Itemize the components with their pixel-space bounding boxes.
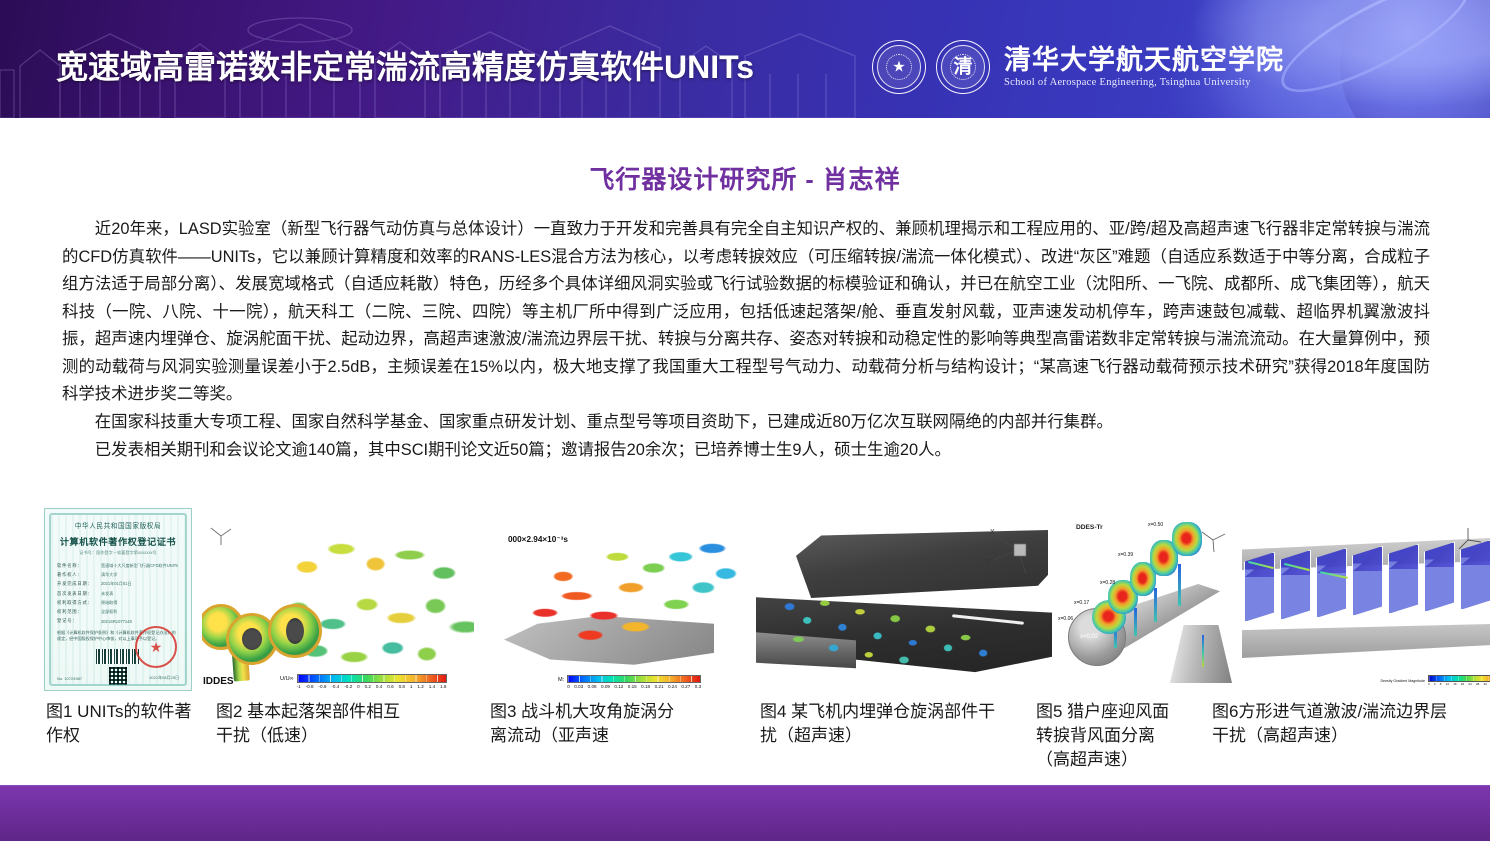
figure-1-image: 中华人民共和国国家版权局 计算机软件著作权登记证书 证书号：国作登字－软著登字第… xyxy=(44,508,192,691)
colorbar-tick: 0.03 xyxy=(574,684,583,689)
copyright-certificate: 中华人民共和国国家版权局 计算机软件著作权登记证书 证书号：国作登字－软著登字第… xyxy=(44,508,192,691)
weapons-bay-cfd-render: X Z Y xyxy=(756,508,1052,691)
colorbar-legend: M: 0 0.03 0.06 0.09 0.12 0.15 0.18 0.21 xyxy=(558,675,701,689)
colorbar-tick: 28 xyxy=(1476,682,1479,686)
method-label-ddes-tr: DDES-Tr xyxy=(1076,524,1103,531)
figure-3-image: 000×2.94×10⁻³s M: 0 0.03 0.06 0.09 0.12 … xyxy=(496,508,754,691)
landing-gear-cfd-render: IDDES U/U∞ -1 -0.8 -0.6 -0.4 -0.2 0 0.2 xyxy=(202,508,474,691)
colorbar-tick: 0.12 xyxy=(614,684,623,689)
barcode-icon xyxy=(96,649,140,664)
colorbar-tick: 20 xyxy=(1461,682,1464,686)
certificate-field-row: 著作权人： 清华大学 xyxy=(57,572,179,578)
colorbar-tick: 0.4 xyxy=(376,684,382,689)
colorbar-tick: 1 xyxy=(410,684,413,689)
star-icon: ★ xyxy=(892,60,905,75)
certificate-serial: No. 10724987 xyxy=(57,676,82,681)
duct-lower-wall xyxy=(1242,624,1490,658)
colorbar-tick: 0.15 xyxy=(628,684,637,689)
certificate-authority: 中华人民共和国国家版权局 xyxy=(52,520,184,530)
slice-plane xyxy=(1388,544,1419,614)
figure-2-caption: 图2 基本起落架部件相互干扰（低速） xyxy=(216,700,416,748)
slice-plane xyxy=(1280,550,1311,620)
certificate-field-value: 未发表 xyxy=(101,591,113,597)
figure-6-caption: 图6方形进气道激波/湍流边界层干扰（高超声速） xyxy=(1212,700,1452,748)
landing-gear-hub xyxy=(286,618,304,644)
certificate-field-row: 权利取得方式： 原始取得 xyxy=(57,600,179,606)
certificate-field-value: 宽速域十大尺度新型飞行器CFD软件UNITs xyxy=(101,563,178,569)
colorbar-tick: -0.4 xyxy=(331,684,339,689)
station-label: x=0.39 xyxy=(1118,552,1133,558)
logo-group: ★ 清 清华大学航天航空学院 School of Aerospace Engin… xyxy=(872,40,1284,94)
colorbar-tick: 1.2 xyxy=(417,684,423,689)
slice-plane xyxy=(1316,548,1347,618)
figure-5-caption: 图5 猎户座迎风面转捩背风面分离（高超声速） xyxy=(1036,700,1176,772)
colorbar-ticks: -1 -0.8 -0.6 -0.4 -0.2 0 0.2 0.4 0.6 0.8… xyxy=(297,684,447,689)
certificate-field-row: 登记号： 2021SR1077148 xyxy=(57,618,179,624)
slice-plane xyxy=(1424,542,1455,612)
colorbar-tick: 4 xyxy=(1434,682,1436,686)
method-label-iddes: IDDES xyxy=(203,676,234,687)
body-paragraph-2: 在国家科技重大专项工程、国家自然科学基金、国家重点研发计划、重点型号等项目资助下… xyxy=(62,409,1430,437)
colorbar-tick: 1.4 xyxy=(429,684,435,689)
certificate-subnote: 证书号：国作登字－软著登字第xxxxxxx号 xyxy=(52,550,184,556)
qr-code-icon xyxy=(109,667,127,685)
section-subtitle: 飞行器设计研究所 - 肖志祥 xyxy=(0,160,1490,196)
colorbar-tick: -0.8 xyxy=(306,684,314,689)
certificate-title: 计算机软件著作权登记证书 xyxy=(52,534,184,548)
seal-emblem-icon: ★ xyxy=(872,40,926,94)
body-paragraph-3: 已发表相关期刊和会议论文逾140篇，其中SCI期刊论文近50篇；邀请报告20余次… xyxy=(62,437,1430,465)
figure-captions: 图1 UNITs的软件著作权 图2 基本起落架部件相互干扰（低速） 图3 战斗机… xyxy=(0,700,1490,776)
university-text-block: 清华大学航天航空学院 School of Aerospace Engineeri… xyxy=(1004,46,1284,88)
colorbar-tick: 0.2 xyxy=(365,684,371,689)
certificate-field-row: 软件名称： 宽速域十大尺度新型飞行器CFD软件UNITs xyxy=(57,563,179,569)
page-title: 宽速域高雷诺数非定常湍流高精度仿真软件UNITs xyxy=(56,42,754,88)
colorbar-legend: U/U∞ -1 -0.8 -0.6 -0.4 -0.2 0 0.2 0.4 xyxy=(280,674,447,689)
slide-root: 宽速域高雷诺数非定常湍流高精度仿真软件UNITs ★ 清 清华大学航天航空学院 … xyxy=(0,0,1490,841)
figure-5-image: DDES-Tr x=0.02 xyxy=(1056,508,1234,691)
orion-capsule-cfd-render: DDES-Tr x=0.02 xyxy=(1056,508,1234,691)
figure-4-caption: 图4 某飞机内埋弹仓旋涡部件干扰（超声速） xyxy=(760,700,1010,748)
xyz-axis-icon xyxy=(1454,524,1484,554)
colorbar-tick: 0 xyxy=(357,684,360,689)
colorbar-tick: 12 xyxy=(1446,682,1449,686)
figure-1-caption: 图1 UNITs的软件著作权 xyxy=(46,700,206,748)
colorbar-tick: 0 xyxy=(567,684,570,689)
university-name-en: School of Aerospace Engineering, Tsinghu… xyxy=(1004,77,1284,88)
footer-bar xyxy=(0,785,1490,841)
tsinghua-glyph-icon: 清 xyxy=(953,58,972,77)
svg-text:Z: Z xyxy=(986,559,991,566)
certificate-field-row: 首次发表日期： 未发表 xyxy=(57,591,179,597)
colorbar-tick: 0.3 xyxy=(695,684,701,689)
certificate-field-value: 2021SR1077148 xyxy=(101,619,132,624)
colorbar-tick: 0.6 xyxy=(387,684,393,689)
figure-4-image: X Z Y xyxy=(756,508,1052,691)
certificate-field-value: 清华大学 xyxy=(101,572,117,578)
colorbar-tick: 32 xyxy=(1483,682,1486,686)
colorbar-tick: -0.6 xyxy=(319,684,327,689)
certificate-fields: 软件名称： 宽速域十大尺度新型飞行器CFD软件UNITs 著作权人： 清华大学 … xyxy=(57,563,179,624)
station-label: x=0.17 xyxy=(1074,600,1089,606)
figure-6-image: Density Gradient Magnitude 0 4 8 12 16 2… xyxy=(1236,508,1490,691)
colorbar-tick: -1 xyxy=(297,684,301,689)
xyz-axis-icon xyxy=(208,520,234,546)
body-paragraph-1: 近20年来，LASD实验室（新型飞行器气动仿真与总体设计）一直致力于开发和完善具… xyxy=(62,216,1430,409)
colorbar-label: U/U∞ xyxy=(280,674,294,682)
station-stem xyxy=(1154,588,1157,622)
colorbar-tick: 0.06 xyxy=(588,684,597,689)
square-inlet-cfd-render: Density Gradient Magnitude 0 4 8 12 16 2… xyxy=(1236,508,1490,691)
tsinghua-emblem-icon: 清 xyxy=(936,40,990,94)
colorbar-tick: 16 xyxy=(1453,682,1456,686)
colorbar-gradient xyxy=(297,674,447,683)
xyz-axis-icon: X Z Y xyxy=(984,528,1036,580)
turbulence-structures xyxy=(772,586,992,672)
svg-text:X: X xyxy=(990,529,995,536)
certificate-field-row: 权利范围： 全部权利 xyxy=(57,609,179,615)
certificate-field-value: 原始取得 xyxy=(101,600,117,606)
colorbar-tick: 8 xyxy=(1440,682,1442,686)
certificate-field-key: 著作权人： xyxy=(57,572,97,578)
cross-section-contour xyxy=(1172,522,1202,556)
figure-strip: 中华人民共和国国家版权局 计算机软件著作权登记证书 证书号：国作登字－软著登字第… xyxy=(44,508,1464,693)
colorbar-tick: 24 xyxy=(1468,682,1471,686)
vortex-isosurface xyxy=(518,526,744,666)
colorbar-label: Density Gradient Magnitude xyxy=(1380,679,1425,683)
colorbar-tick: 0 xyxy=(1428,682,1430,686)
body-text-block: 近20年来，LASD实验室（新型飞行器气动仿真与总体设计）一直致力于开发和完善具… xyxy=(62,216,1430,464)
landing-gear-hub xyxy=(242,628,262,650)
certificate-field-key: 权利范围： xyxy=(57,609,97,615)
fighter-aoa-cfd-render: 000×2.94×10⁻³s M: 0 0.03 0.06 0.09 0.12 … xyxy=(496,508,754,691)
certificate-field-key: 首次发表日期： xyxy=(57,591,97,597)
station-label: x=0.02 xyxy=(1080,634,1098,640)
certificate-field-key: 登记号： xyxy=(57,618,97,624)
station-label: x=0.50 xyxy=(1148,522,1163,528)
certificate-field-key: 软件名称： xyxy=(57,563,97,569)
colorbar-tick: 0.18 xyxy=(641,684,650,689)
colorbar-tick: 0.09 xyxy=(601,684,610,689)
station-label: x=0.06 xyxy=(1058,616,1073,622)
colorbar-tick: -0.2 xyxy=(344,684,352,689)
station-stem xyxy=(1134,608,1137,636)
colorbar-tick: 0.21 xyxy=(655,684,664,689)
svg-text:Y: Y xyxy=(1026,574,1031,580)
colorbar-tick: 0.27 xyxy=(681,684,690,689)
inset-contour-line xyxy=(1202,635,1204,667)
certificate-date: 2021年08月25日 xyxy=(149,675,179,681)
colorbar-label: M: xyxy=(558,675,564,683)
colorbar-gradient xyxy=(567,675,701,683)
certificate-field-key: 开发完成日期： xyxy=(57,581,97,587)
certificate-field-row: 开发完成日期： 2021年01月01日 xyxy=(57,581,179,587)
figure-2-image: IDDES U/U∞ -1 -0.8 -0.6 -0.4 -0.2 0 0.2 xyxy=(202,508,474,691)
station-stem xyxy=(1178,564,1181,606)
colorbar-ticks: 0 4 8 12 16 20 24 28 32 36 40 xyxy=(1428,682,1490,686)
colorbar-legend: Density Gradient Magnitude 0 4 8 12 16 2… xyxy=(1378,674,1490,687)
station-label: x=0.28 xyxy=(1100,580,1115,586)
certificate-field-key: 权利取得方式： xyxy=(57,600,97,606)
university-name-cn: 清华大学航天航空学院 xyxy=(1004,46,1284,74)
slice-plane xyxy=(1352,546,1383,616)
colorbar-ticks: 0 0.03 0.06 0.09 0.12 0.15 0.18 0.21 0.2… xyxy=(567,684,701,689)
official-seal-icon: ★ xyxy=(135,626,177,668)
certificate-field-value: 全部权利 xyxy=(101,609,117,615)
colorbar-tick: 0.24 xyxy=(668,684,677,689)
colorbar-gradient xyxy=(1428,675,1490,682)
figure-3-caption: 图3 战斗机大攻角旋涡分离流动（亚声速 xyxy=(490,700,690,748)
colorbar-tick: 0.8 xyxy=(399,684,405,689)
certificate-field-value: 2021年01月01日 xyxy=(101,581,132,587)
colorbar-tick: 1.6 xyxy=(440,684,446,689)
header-banner: 宽速域高雷诺数非定常湍流高精度仿真软件UNITs ★ 清 清华大学航天航空学院 … xyxy=(0,0,1490,118)
